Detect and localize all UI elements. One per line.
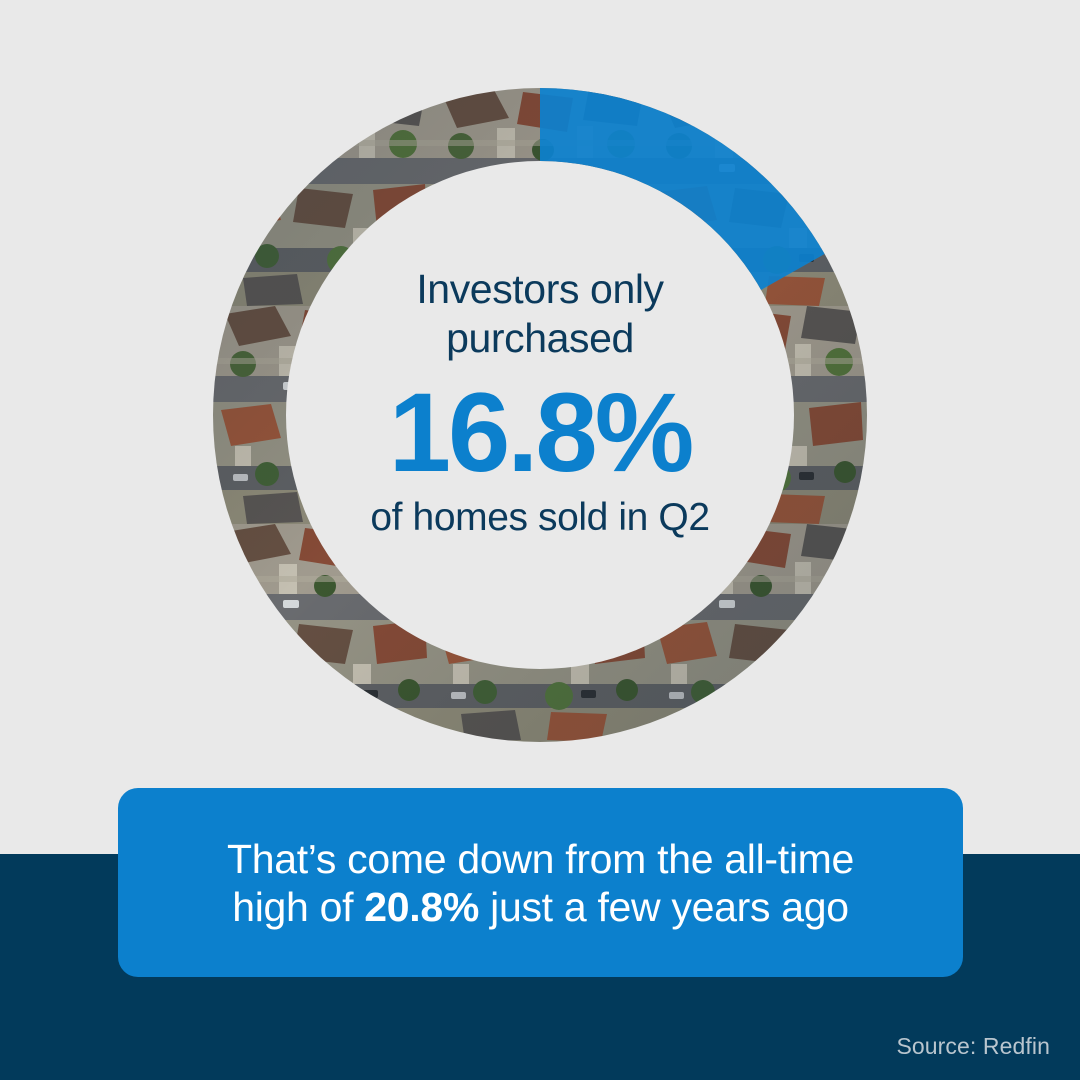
callout-highlight-value: 20.8% [364,884,479,930]
callout-line-1: That’s come down from the all-time [227,836,854,882]
donut-chart-svg [213,88,867,742]
donut-chart [213,88,867,742]
callout-line-2-suffix: just a few years ago [479,884,849,930]
source-attribution: Source: Redfin [896,1033,1050,1060]
callout-banner-text: That’s come down from the all-time high … [227,835,854,931]
callout-line-2-prefix: high of [232,884,364,930]
callout-banner: That’s come down from the all-time high … [118,788,963,977]
infographic-canvas: Investors only purchased 16.8% of homes … [0,0,1080,1080]
